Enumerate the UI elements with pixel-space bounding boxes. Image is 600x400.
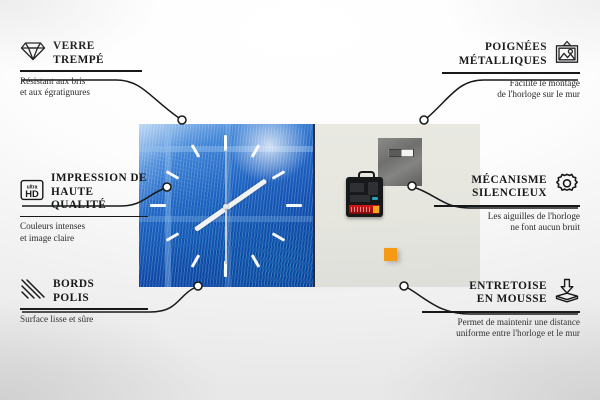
callout-header: BORDS POLIS: [20, 278, 148, 305]
clock-mechanism: [346, 177, 383, 217]
callout-impression-haute-qualite: ultra HD IMPRESSION DE HAUTE QUALITÉ Cou…: [20, 172, 148, 244]
battery-label: [351, 207, 371, 212]
clock-battery: [349, 205, 380, 214]
battery-plus-terminal: [373, 206, 379, 213]
callout-header: ENTRETOISE EN MOUSSE: [422, 278, 580, 308]
callout-mecanisme-silencieux: MÉCANISME SILENCIEUX Les aiguilles de l'…: [434, 172, 580, 233]
callout-divider: [20, 308, 148, 310]
mechanism-led: [372, 197, 378, 200]
callout-title: IMPRESSION DE HAUTE QUALITÉ: [51, 172, 148, 213]
tick-3: [286, 204, 302, 207]
svg-text:HD: HD: [25, 188, 39, 199]
picture-frame-hanger-icon: [554, 40, 580, 69]
callout-divider: [20, 216, 148, 218]
callout-title: MÉCANISME SILENCIEUX: [471, 174, 547, 201]
clock-face-panel: [139, 124, 313, 287]
foam-spacer-arrow-icon: [554, 278, 580, 308]
product-image: [139, 124, 480, 287]
callout-entretoise-en-mousse: ENTRETOISE EN MOUSSE Permet de maintenir…: [422, 278, 580, 339]
callout-title: VERRE TREMPÉ: [53, 40, 104, 67]
infographic-canvas: VERRE TREMPÉ Résistant aux bris et aux é…: [0, 0, 600, 400]
callout-divider: [434, 205, 580, 207]
mechanism-detail-2: [368, 182, 378, 195]
callout-description: Les aiguilles de l'horloge ne font aucun…: [434, 211, 580, 234]
ultra-hd-icon: ultra HD: [20, 179, 44, 206]
polished-edge-icon: [20, 278, 46, 305]
mechanism-detail-3: [350, 195, 370, 202]
callout-poignees-metalliques: POIGNÉES MÉTALLIQUES Facilite le montage…: [442, 40, 580, 100]
diamond-icon: [20, 40, 46, 67]
callout-verre-trempe: VERRE TREMPÉ Résistant aux bris et aux é…: [20, 40, 142, 98]
callout-divider: [20, 70, 142, 72]
callout-divider: [422, 311, 580, 313]
callout-description: Facilite le montage de l'horloge sur le …: [442, 78, 580, 101]
callout-header: VERRE TREMPÉ: [20, 40, 142, 67]
mechanism-hook: [358, 171, 375, 181]
foam-spacer: [384, 248, 397, 261]
glass-glare: [229, 124, 309, 183]
callout-bords-polis: BORDS POLIS Surface lisse et sûre: [20, 278, 148, 325]
gear-icon: [554, 172, 580, 202]
clock-second-hand-tail: [225, 149, 227, 207]
callout-divider: [442, 72, 580, 74]
callout-header: MÉCANISME SILENCIEUX: [434, 172, 580, 202]
callout-title: ENTRETOISE EN MOUSSE: [469, 280, 547, 307]
metal-hanger-plate: [378, 138, 422, 186]
callout-description: Couleurs intenses et image claire: [20, 221, 148, 244]
callout-description: Permet de maintenir une distance uniform…: [422, 317, 580, 340]
callout-title: POIGNÉES MÉTALLIQUES: [459, 41, 547, 68]
tick-9: [150, 204, 166, 207]
callout-description: Résistant aux bris et aux égratignures: [20, 76, 142, 99]
clock-center-pivot: [223, 204, 228, 209]
callout-title: BORDS POLIS: [53, 278, 94, 305]
clock-second-hand: [225, 206, 227, 264]
callout-description: Surface lisse et sûre: [20, 314, 148, 325]
callout-header: ultra HD IMPRESSION DE HAUTE QUALITÉ: [20, 172, 148, 213]
hanger-slot: [388, 149, 414, 157]
mechanism-detail-1: [350, 183, 364, 192]
callout-header: POIGNÉES MÉTALLIQUES: [442, 40, 580, 69]
